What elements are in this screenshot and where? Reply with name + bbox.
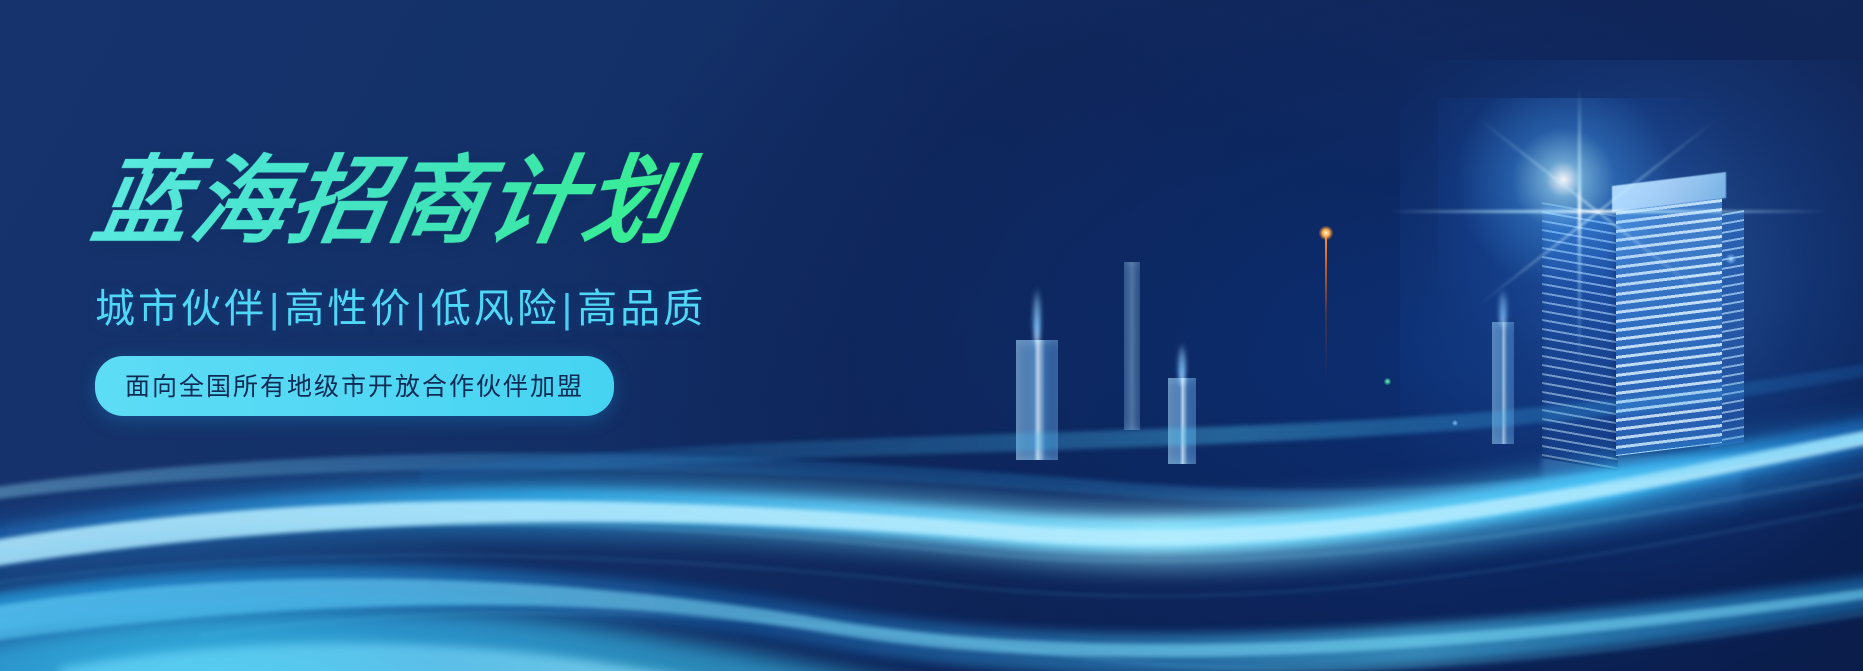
promo-banner: 蓝海招商计划 城市伙伴|高性价|低风险|高品质 面向全国所有地级市开放合作伙伴加… (0, 0, 1863, 671)
subtitle-separator: | (560, 287, 577, 331)
subtitle-separator: | (413, 287, 430, 331)
subtitle-part-4: 高品质 (577, 287, 706, 331)
subtitle-part-3: 低风险 (431, 287, 560, 331)
partner-recruitment-badge[interactable]: 面向全国所有地级市开放合作伙伴加盟 (95, 356, 614, 416)
subtitle-part-2: 高性价 (284, 287, 413, 331)
banner-title: 蓝海招商计划 (86, 150, 864, 254)
subtitle-separator: | (267, 287, 284, 331)
subtitle-part-1: 城市伙伴 (95, 287, 267, 331)
banner-copy: 蓝海招商计划 城市伙伴|高性价|低风险|高品质 面向全国所有地级市开放合作伙伴加… (95, 150, 855, 416)
banner-subtitle: 城市伙伴|高性价|低风险|高品质 (95, 276, 855, 334)
